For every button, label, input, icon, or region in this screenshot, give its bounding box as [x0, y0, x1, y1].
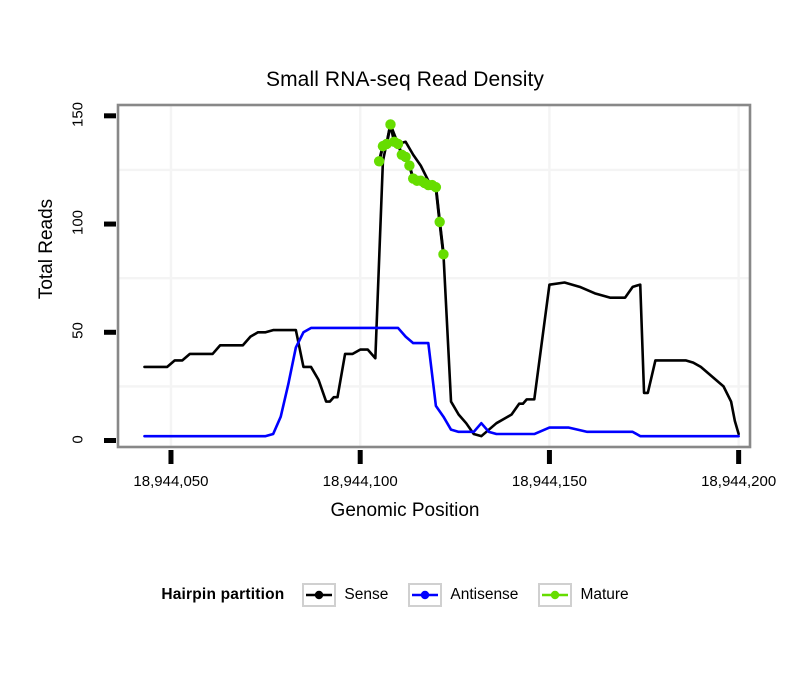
- mature-data-point: [434, 217, 444, 227]
- y-tick-label: 100: [70, 203, 87, 243]
- mature-data-point: [438, 249, 448, 259]
- chart-legend: Hairpin partition SenseAntisenseMature: [0, 583, 810, 607]
- chart-figure: Small RNA-seq Read Density Total Reads G…: [0, 0, 810, 690]
- legend-label: Sense: [344, 586, 388, 604]
- legend-entry[interactable]: Mature: [538, 583, 644, 607]
- mature-data-point: [374, 156, 384, 166]
- legend-title: Hairpin partition: [161, 586, 284, 604]
- mature-data-point: [393, 139, 403, 149]
- x-tick-label: 18,944,050: [101, 473, 241, 490]
- x-tick-label: 18,944,100: [290, 473, 430, 490]
- legend-key-antisense: [408, 583, 442, 607]
- legend-entry[interactable]: Sense: [302, 583, 404, 607]
- legend-key-sense: [302, 583, 336, 607]
- mature-data-point: [431, 182, 441, 192]
- legend-label: Mature: [580, 586, 628, 604]
- mature-data-point: [385, 119, 395, 129]
- legend-entry[interactable]: Antisense: [408, 583, 534, 607]
- y-tick-label: 0: [70, 419, 87, 459]
- legend-key-mature: [538, 583, 572, 607]
- mature-data-point: [404, 160, 414, 170]
- x-tick-label: 18,944,200: [669, 473, 809, 490]
- legend-label: Antisense: [450, 586, 518, 604]
- x-tick-label: 18,944,150: [479, 473, 619, 490]
- y-tick-label: 50: [70, 311, 87, 351]
- legend-entries: SenseAntisenseMature: [302, 583, 648, 607]
- y-tick-label: 150: [70, 94, 87, 134]
